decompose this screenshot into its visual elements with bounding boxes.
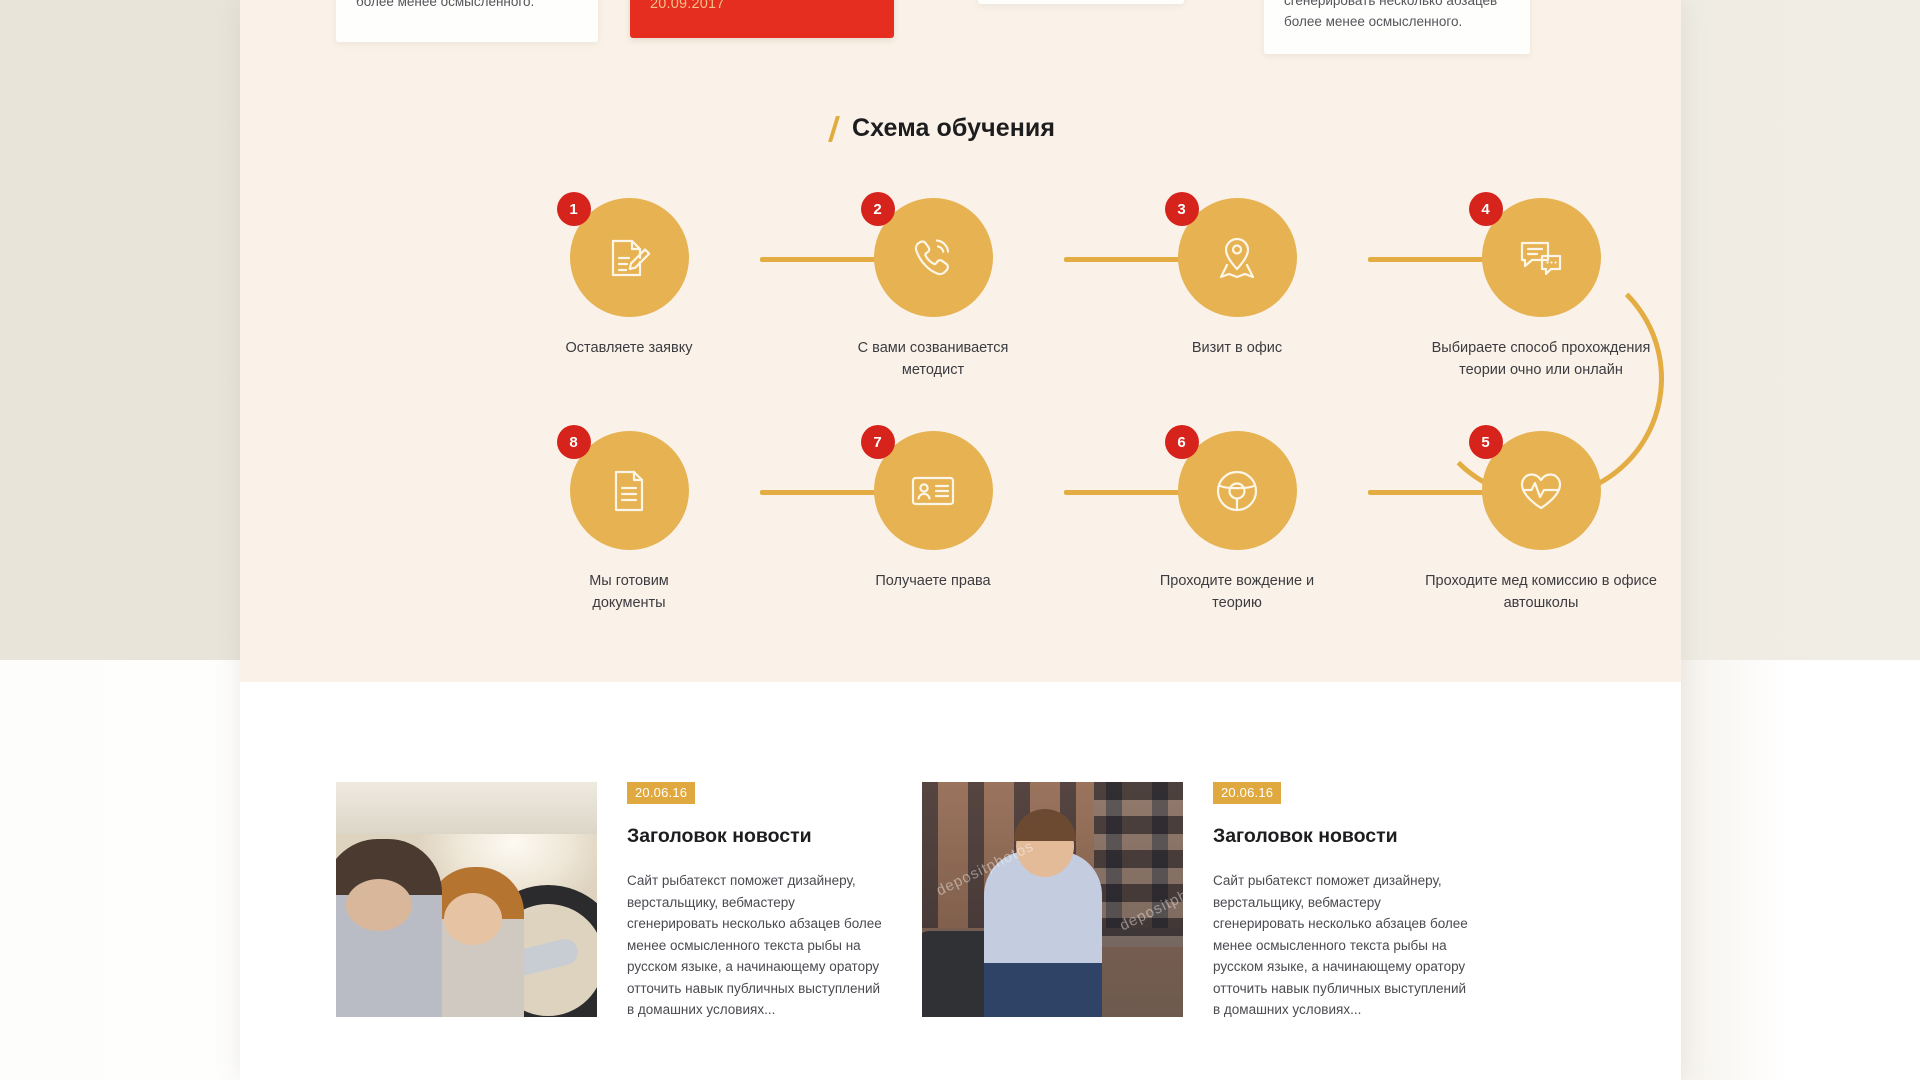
flow-step-7-number: 7 (861, 425, 895, 459)
map-pin-icon (1211, 232, 1263, 284)
flow-step-7[interactable]: 7 Получаете права (855, 431, 1011, 592)
flow-step-1-number: 1 (557, 192, 591, 226)
top-partial-card-2-date: 20.09.2017 (650, 0, 725, 12)
top-partial-card-1[interactable]: более менее осмысленного. (336, 0, 598, 42)
page-backdrop-lower-right-shade (1681, 660, 1920, 1080)
flow-step-8-number: 8 (557, 425, 591, 459)
flow-step-2-number: 2 (861, 192, 895, 226)
id-card-icon (907, 465, 959, 517)
flow-step-8[interactable]: 8 Мы готовим документы (551, 431, 707, 614)
flow-step-4-number: 4 (1469, 192, 1503, 226)
flow-step-1-label: Оставляете заявку (551, 337, 707, 359)
phone-ringing-icon (907, 232, 959, 284)
news-card-2-date: 20.06.16 (1213, 782, 1281, 804)
news-card[interactable]: depositphotos depositph 20.06.16 Заголов… (922, 782, 1475, 1034)
schema-title: Схема обучения (852, 114, 1055, 143)
page-content-column: более менее осмысленного. 20.09.2017 сге… (240, 0, 1681, 1080)
man-with-car-photo: depositphotos depositph (922, 782, 1183, 1017)
flow-step-7-label: Получаете права (855, 570, 1011, 592)
flow-step-3-label: Визит в офис (1159, 337, 1315, 359)
slash-accent-icon (828, 116, 840, 142)
photo-detail (336, 782, 597, 834)
flow-step-6[interactable]: 6 Проходите вождение и теорию (1159, 431, 1315, 614)
flow-step-7-bubble[interactable]: 7 (874, 431, 993, 550)
steering-wheel-icon (1211, 465, 1263, 517)
news-card-2-title[interactable]: Заголовок новости (1213, 825, 1475, 848)
flow-step-1[interactable]: 1 Оставляете заявку (551, 198, 707, 359)
flow-step-3[interactable]: 3 Визит в офис (1159, 198, 1315, 359)
news-card-1-image[interactable] (336, 782, 597, 1017)
flow-step-4-label: Выбираете способ прохождения теории очно… (1416, 337, 1666, 381)
news-card-2-body: 20.06.16 Заголовок новости Сайт рыбатекс… (1213, 782, 1475, 1034)
photo-detail (336, 839, 442, 1017)
flow-step-8-bubble[interactable]: 8 (570, 431, 689, 550)
flow-step-8-label: Мы готовим документы (551, 570, 707, 614)
chat-bubbles-icon (1515, 232, 1567, 284)
top-partial-card-3[interactable] (978, 0, 1184, 4)
training-flow-diagram: 1 Оставляете заявку 2 (240, 178, 1681, 638)
photo-detail (428, 867, 524, 1017)
flow-step-4-bubble[interactable]: 4 (1482, 198, 1601, 317)
news-card-1-title[interactable]: Заголовок новости (627, 825, 889, 848)
news-card-1-text: Сайт рыбатекст поможет дизайнеру, верста… (627, 870, 889, 1021)
flow-step-5[interactable]: 5 Проходите мед комиссию в офисе автошко… (1416, 431, 1666, 614)
news-card[interactable]: 20.06.16 Заголовок новости Сайт рыбатекс… (336, 782, 889, 1034)
flow-step-2-bubble[interactable]: 2 (874, 198, 993, 317)
driving-lesson-photo (336, 782, 597, 1017)
top-partial-card-2-highlight[interactable]: 20.09.2017 (630, 0, 894, 38)
heart-pulse-icon (1515, 465, 1567, 517)
flow-step-6-number: 6 (1165, 425, 1199, 459)
flow-step-6-bubble[interactable]: 6 (1178, 431, 1297, 550)
document-lines-icon (603, 465, 655, 517)
flow-step-1-bubble[interactable]: 1 (570, 198, 689, 317)
news-card-2-text: Сайт рыбатекст поможет дизайнеру, верста… (1213, 870, 1475, 1021)
document-pencil-icon (603, 232, 655, 284)
flow-step-5-bubble[interactable]: 5 (1482, 431, 1601, 550)
news-card-1-date: 20.06.16 (627, 782, 695, 804)
training-schema-section: более менее осмысленного. 20.09.2017 сге… (240, 0, 1681, 682)
flow-step-6-label: Проходите вождение и теорию (1159, 570, 1315, 614)
flow-step-4[interactable]: 4 Выбираете способ прохождения теории оч… (1416, 198, 1666, 381)
flow-step-5-number: 5 (1469, 425, 1503, 459)
events-section: Наши мероприятия 20.06.16 Заголовок ново… (240, 682, 1681, 1080)
flow-step-5-label: Проходите мед комиссию в офисе автошколы (1416, 570, 1666, 614)
flow-step-3-number: 3 (1165, 192, 1199, 226)
schema-section-heading: Схема обучения (832, 114, 1055, 143)
top-partial-card-4[interactable]: сгенерировать несколько абзацев более ме… (1264, 0, 1530, 54)
top-partial-card-1-text: более менее осмысленного. (356, 0, 582, 12)
flow-step-3-bubble[interactable]: 3 (1178, 198, 1297, 317)
flow-step-2-label: С вами созванивается методист (855, 337, 1011, 381)
flow-step-2[interactable]: 2 С вами созванивается методист (855, 198, 1011, 381)
top-partial-card-4-text: сгенерировать несколько абзацев более ме… (1284, 0, 1514, 32)
news-card-1-body: 20.06.16 Заголовок новости Сайт рыбатекс… (627, 782, 889, 1034)
news-card-2-image[interactable]: depositphotos depositph (922, 782, 1183, 1017)
